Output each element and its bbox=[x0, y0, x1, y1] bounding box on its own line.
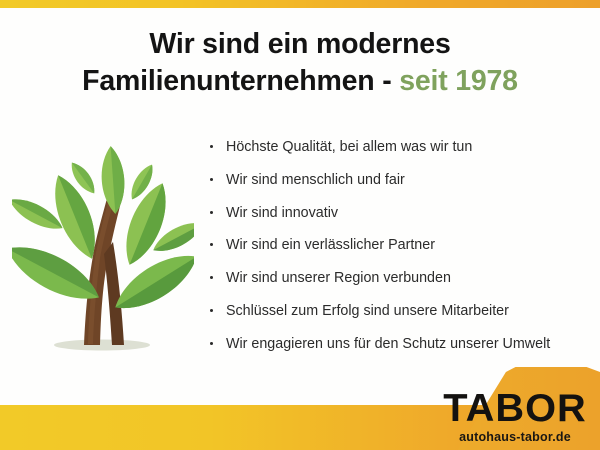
headline-line-1: Wir sind ein modernes bbox=[149, 28, 450, 60]
bullet-dot-icon bbox=[210, 178, 213, 181]
headline-line-2: Familienunternehmen - seit 1978 bbox=[0, 63, 600, 100]
brand-wordmark: TABOR bbox=[439, 389, 592, 428]
tree-leaf-top-center bbox=[99, 145, 126, 214]
bullet-dot-icon bbox=[210, 211, 213, 214]
list-item: Schlüssel zum Erfolg sind unsere Mitarbe… bbox=[208, 304, 594, 318]
list-item-label: Wir engagieren uns für den Schutz unsere… bbox=[226, 336, 550, 352]
list-item: Wir sind ein verlässlicher Partner bbox=[208, 238, 594, 252]
list-item-label: Wir sind ein verlässlicher Partner bbox=[226, 237, 435, 253]
brand-tagline: autohaus-tabor.de bbox=[440, 430, 590, 444]
tree-icon bbox=[12, 142, 194, 360]
list-item-label: Wir sind unserer Region verbunden bbox=[226, 270, 451, 286]
value-bullet-list: Höchste Qualität, bei allem was wir tun … bbox=[208, 140, 594, 370]
list-item-label: Wir sind menschlich und fair bbox=[226, 172, 405, 188]
list-item: Wir sind innovativ bbox=[208, 206, 594, 220]
bullet-dot-icon bbox=[210, 145, 213, 148]
list-item: Wir sind menschlich und fair bbox=[208, 173, 594, 187]
list-item-label: Höchste Qualität, bei allem was wir tun bbox=[226, 139, 472, 155]
bullet-dot-icon bbox=[210, 342, 213, 345]
list-item: Wir sind unserer Region verbunden bbox=[208, 271, 594, 285]
bullet-dot-icon bbox=[210, 243, 213, 246]
top-accent-bar bbox=[0, 0, 600, 8]
list-item: Höchste Qualität, bei allem was wir tun bbox=[208, 140, 594, 154]
tree-ground-shadow bbox=[54, 340, 150, 351]
tree-trunk-branch bbox=[104, 242, 124, 345]
slide-root: Wir sind ein modernes Familienunternehme… bbox=[0, 0, 600, 450]
brand-logo[interactable]: TABOR autohaus-tabor.de bbox=[440, 389, 590, 444]
page-title: Wir sind ein modernes Familienunternehme… bbox=[0, 26, 600, 100]
tree-illustration bbox=[12, 142, 194, 360]
headline-accent-year: seit 1978 bbox=[399, 65, 518, 97]
bullet-dot-icon bbox=[210, 309, 213, 312]
bullet-dot-icon bbox=[210, 276, 213, 279]
list-item: Wir engagieren uns für den Schutz unsere… bbox=[208, 337, 594, 351]
list-item-label: Wir sind innovativ bbox=[226, 205, 338, 221]
headline-line-2-main: Familienunternehmen - bbox=[82, 65, 399, 97]
list-item-label: Schlüssel zum Erfolg sind unsere Mitarbe… bbox=[226, 303, 509, 319]
tree-leaf-upper-right bbox=[116, 178, 177, 271]
